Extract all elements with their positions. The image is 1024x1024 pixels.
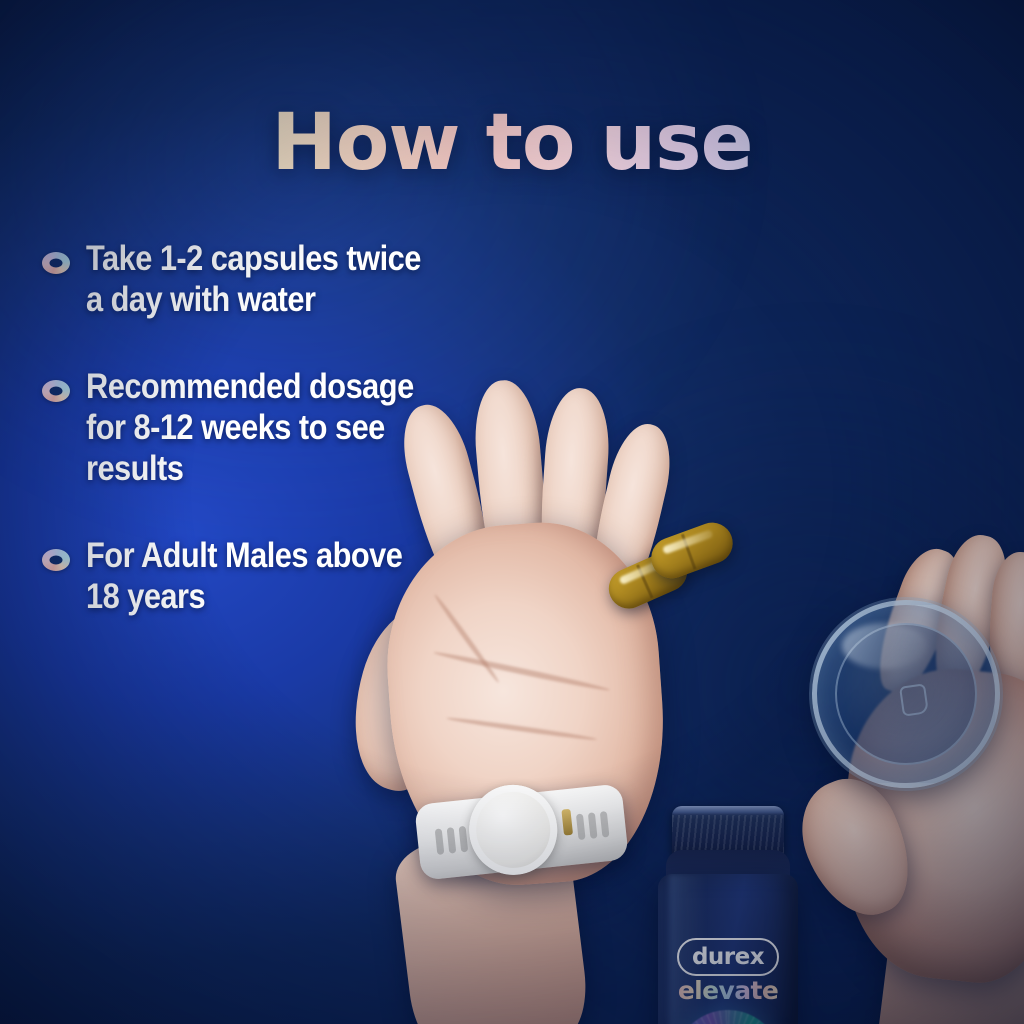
vignette-overlay [0, 0, 1024, 1024]
marketing-card: How to use Take 1-2 capsules twice a day… [0, 0, 1024, 1024]
